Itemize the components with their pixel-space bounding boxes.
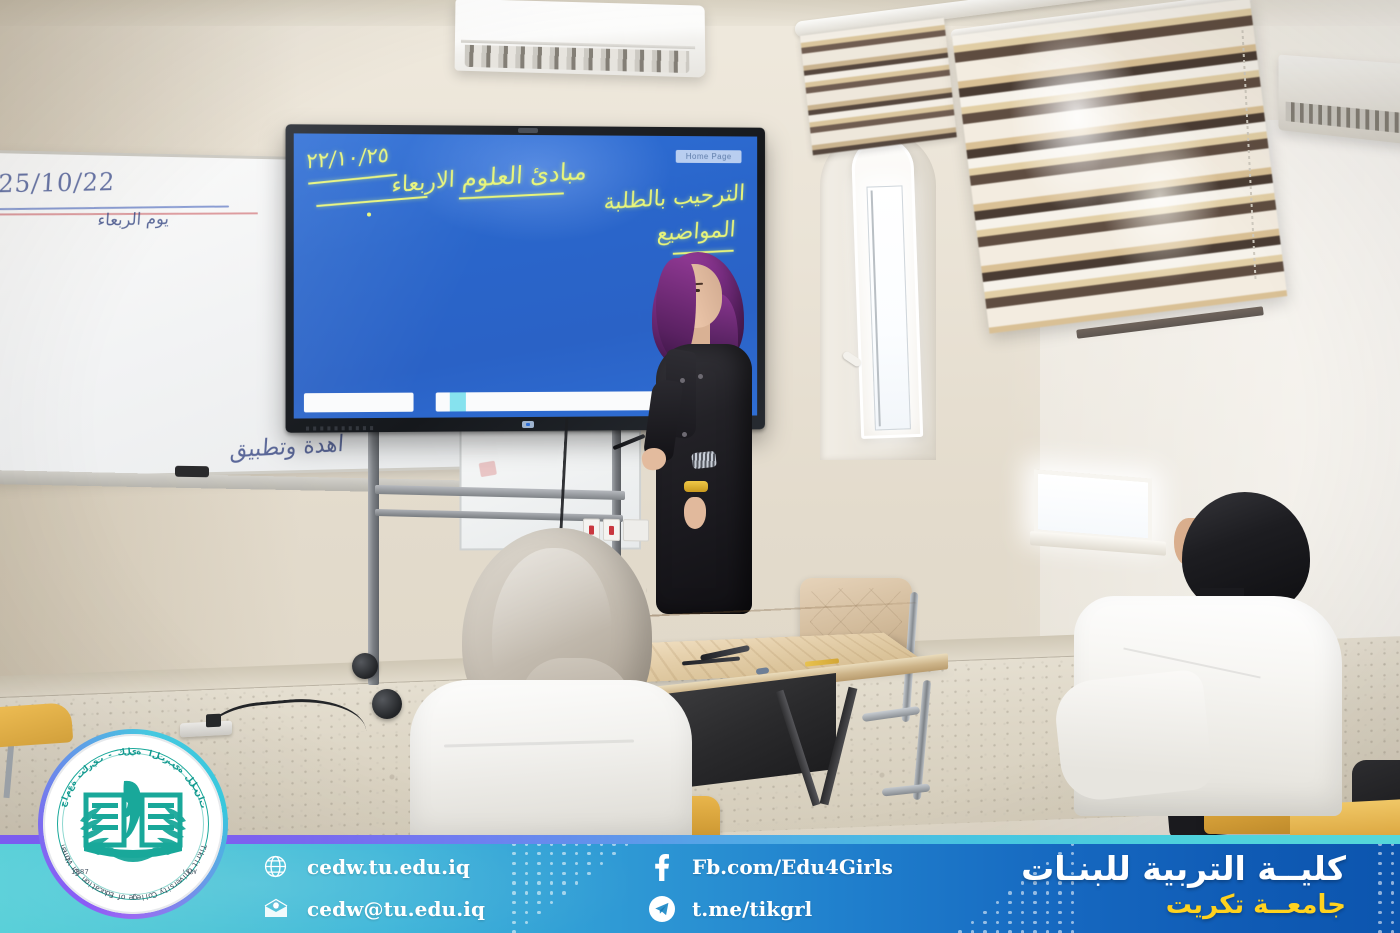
dot (1391, 872, 1395, 876)
cable-plug (206, 714, 221, 728)
dot (996, 921, 1000, 925)
dot (587, 852, 591, 856)
dot-row (512, 888, 628, 898)
logo-emblem-book-and-face (78, 773, 188, 865)
dot (512, 901, 516, 905)
dot (971, 921, 975, 925)
screenshot-root: 25/10/22 يوم الربعاء اهدة وتطبيق ٢٢/١٠/٢… (0, 0, 1400, 933)
university-logo: جامعة تكريت - كلية التربية للبنات Tikrit… (38, 729, 228, 919)
dot (587, 872, 591, 876)
dot-row (1378, 859, 1394, 869)
whiteboard-sub-text: يوم الربعاء (97, 209, 170, 230)
dot (1008, 921, 1012, 925)
dot (1378, 911, 1382, 915)
smartboard-ink-underline (308, 174, 397, 185)
dot (996, 911, 1000, 915)
telegram-icon (648, 895, 675, 922)
dot (1391, 862, 1395, 866)
dot-row (512, 868, 628, 878)
envelope-icon: @ (262, 895, 289, 922)
stand-caster-wheel (352, 653, 378, 679)
dot-row (958, 927, 1074, 933)
arched-window (851, 137, 923, 439)
dot (512, 911, 516, 915)
dot-row (1378, 878, 1394, 888)
dot (537, 862, 541, 866)
logo-year-arabic: ١٩٨٧ (182, 868, 197, 876)
dot (1391, 891, 1395, 895)
footer-website-text: cedw.tu.edu.iq (307, 855, 470, 879)
smartboard-toolbar-left[interactable] (304, 393, 414, 413)
dot (537, 881, 541, 885)
dot (550, 862, 554, 866)
dot (575, 881, 579, 885)
dot (1008, 901, 1012, 905)
dot (562, 872, 566, 876)
stand-caster-wheel (372, 689, 402, 719)
dot-row (1378, 849, 1394, 859)
dot (575, 862, 579, 866)
dot-row (1378, 908, 1394, 918)
dot (550, 852, 554, 856)
footer-facebook-text: Fb.com/Edu4Girls (692, 855, 893, 879)
smartboard-ink-right-1: الترحيب بالطلبة (603, 181, 745, 215)
dot (996, 901, 1000, 905)
instructor-hand (684, 497, 706, 529)
smartboard-speaker-vents (306, 426, 377, 431)
dot (512, 862, 516, 866)
ac-vent (1286, 102, 1400, 136)
footer-email-text: cedw@tu.edu.iq (307, 897, 485, 921)
dot (512, 921, 516, 925)
dot (1378, 891, 1382, 895)
smartboard-ink-date: ٢٢/١٠/٢٥ (305, 142, 389, 173)
smartboard-stand-post-left (368, 425, 379, 685)
footer-social-column: Fb.com/Edu4Girls t.me/tikgrl (648, 853, 893, 922)
dot (1378, 901, 1382, 905)
smartboard-power-led (522, 421, 534, 428)
dot (525, 911, 529, 915)
student-foreground-left (404, 528, 694, 838)
dot (537, 852, 541, 856)
smartboard-home-tab[interactable]: Home Page (676, 150, 742, 163)
dot (537, 901, 541, 905)
dot-row (512, 849, 628, 859)
dot (1008, 911, 1012, 915)
dot (1378, 921, 1382, 925)
roller-blind-main (952, 0, 1287, 334)
roller-blind-secondary (800, 18, 957, 155)
student-arm-right (1052, 668, 1214, 803)
dot (550, 891, 554, 895)
dot (562, 881, 566, 885)
blind-sunlight-glow (952, 0, 1287, 334)
dot (512, 881, 516, 885)
dot-row (512, 927, 628, 933)
logo-year-latin: 1987 (71, 868, 89, 876)
dot (1391, 911, 1395, 915)
footer-telegram-row[interactable]: t.me/tikgrl (648, 895, 893, 922)
smartboard-ink-day: الاربعاء (391, 167, 455, 199)
student-right (1082, 492, 1372, 842)
dot-row (512, 898, 628, 908)
logo-gradient-ring: جامعة تكريت - كلية التربية للبنات Tikrit… (38, 729, 228, 919)
coat-button (682, 432, 687, 437)
dot (1391, 852, 1395, 856)
dot (983, 921, 987, 925)
dot (1008, 891, 1012, 895)
dot (525, 921, 529, 925)
dot-row (1378, 898, 1394, 908)
dot (1378, 852, 1382, 856)
ac-vent (465, 45, 690, 73)
dot-row (1378, 888, 1394, 898)
svg-text:@: @ (273, 903, 278, 909)
dot (525, 872, 529, 876)
dot (550, 872, 554, 876)
dot (537, 891, 541, 895)
smartboard-ink-right-2: المواضيع (656, 217, 736, 246)
logo-arc-char: l (141, 893, 144, 902)
footer-telegram-text: t.me/tikgrl (692, 897, 812, 921)
dot (525, 881, 529, 885)
dot (575, 852, 579, 856)
air-conditioner-center (455, 0, 706, 78)
facebook-icon (648, 853, 675, 880)
smartboard-ink-underline-2 (316, 196, 427, 207)
dot-row (512, 878, 628, 888)
footer-dot-pattern-left (512, 839, 628, 933)
dot (550, 901, 554, 905)
dot-row (1378, 917, 1394, 927)
whiteboard-marker[interactable] (175, 466, 209, 478)
whiteboard-body-text: اهدة وتطبيق (229, 430, 345, 463)
dot (1391, 921, 1395, 925)
dot-row (512, 908, 628, 918)
coat-button (680, 378, 685, 383)
dot (525, 862, 529, 866)
dot (1391, 881, 1395, 885)
dot (525, 852, 529, 856)
footer-contact-column: cedw.tu.edu.iq @ cedw@tu.edu.iq (262, 853, 485, 922)
dot-row (1378, 868, 1394, 878)
dot (537, 872, 541, 876)
dot (600, 852, 604, 856)
instructor-sleeve-cuff (691, 451, 717, 469)
footer-dot-pattern-edge (1378, 839, 1394, 933)
dot (537, 911, 541, 915)
dot (562, 891, 566, 895)
instructor-wristwatch (684, 481, 708, 492)
dot (575, 872, 579, 876)
globe-icon (262, 853, 289, 880)
telegram-badge (649, 896, 675, 922)
dot (1391, 901, 1395, 905)
dot (612, 852, 616, 856)
footer-college-name: كليــة التربية للبنـات (1021, 851, 1346, 888)
logo-white-disc: جامعة تكريت - كلية التربية للبنات Tikrit… (43, 734, 223, 914)
dot-row (1378, 927, 1394, 933)
smartboard-ink-title-underline (459, 192, 564, 199)
smartboard-camera (518, 128, 538, 133)
coat-button (698, 374, 703, 379)
dot (512, 872, 516, 876)
dot (525, 891, 529, 895)
footer-facebook-row[interactable]: Fb.com/Edu4Girls (648, 853, 893, 880)
dot (525, 901, 529, 905)
dot (512, 852, 516, 856)
dot (587, 862, 591, 866)
dot (600, 862, 604, 866)
student-top-left (410, 680, 692, 850)
dot (550, 881, 554, 885)
smartboard-ink-dot (367, 212, 371, 216)
logo-arc-char: e (129, 893, 134, 902)
footer-email-row[interactable]: @ cedw@tu.edu.iq (262, 895, 485, 922)
dot-row (512, 917, 628, 927)
dot (562, 862, 566, 866)
dot (1378, 881, 1382, 885)
footer-brand-block: كليــة التربية للبنـات جامعــة تكريت (1021, 851, 1346, 921)
whiteboard-smudge (479, 461, 497, 478)
dot (983, 911, 987, 915)
whiteboard-date-text: 25/10/22 (0, 167, 116, 198)
footer-website-row[interactable]: cedw.tu.edu.iq (262, 853, 485, 880)
dot (512, 891, 516, 895)
footer-university-name: جامعــة تكريت (1021, 890, 1346, 921)
dot (562, 852, 566, 856)
dot-row (512, 859, 628, 869)
dot (1378, 872, 1382, 876)
smartboard-ink-title: مبادئ العلوم (461, 157, 587, 193)
dot (1378, 862, 1382, 866)
